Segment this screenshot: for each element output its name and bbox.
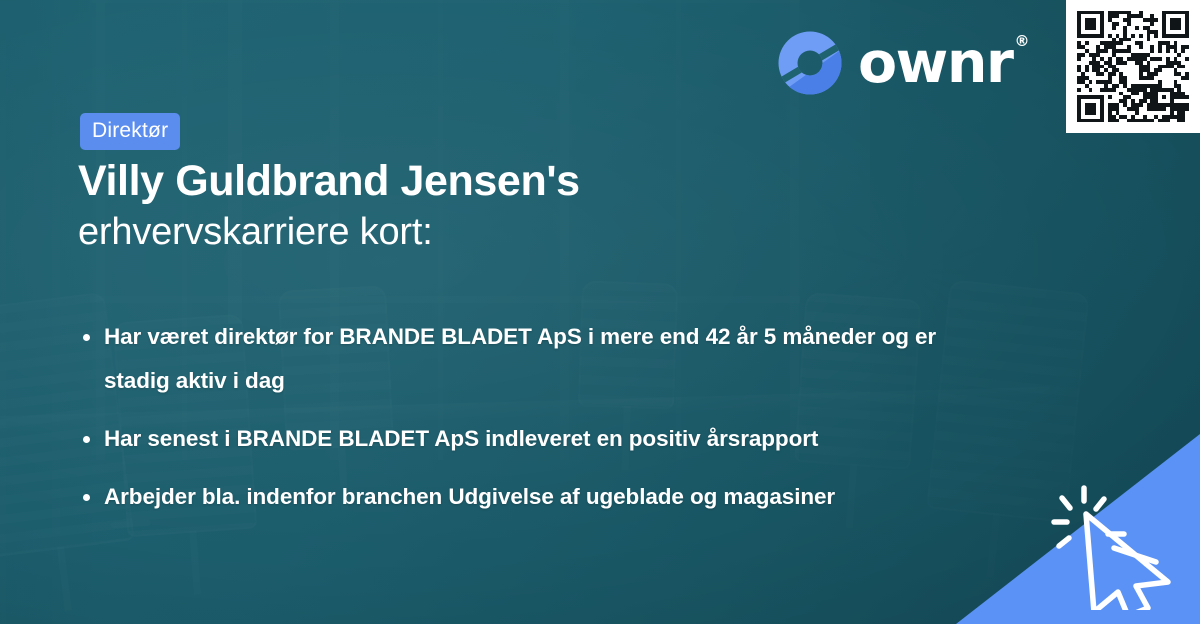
list-item: Arbejder bla. indenfor branchen Udgivels… xyxy=(80,475,980,519)
list-item-label: Arbejder bla. indenfor branchen Udgivels… xyxy=(104,484,835,509)
list-item-label: Har været direktør for BRANDE BLADET ApS… xyxy=(104,324,936,393)
qr-code-icon xyxy=(1077,11,1189,123)
qr-code-panel[interactable] xyxy=(1066,0,1200,133)
list-item-label: Har senest i BRANDE BLADET ApS indlevere… xyxy=(104,426,818,451)
headline-line-1: Villy Guldbrand Jensen's xyxy=(78,157,778,206)
page-title: Villy Guldbrand Jensen's erhvervskarrier… xyxy=(78,157,778,256)
registered-trademark-icon: ® xyxy=(1015,32,1030,50)
ownr-circle-swoosh-icon xyxy=(778,31,842,95)
role-badge: Direktør xyxy=(80,113,180,150)
ownr-logo[interactable]: ownr® xyxy=(778,30,1028,96)
ownr-profile-card: ownr® Direktør Villy Guldbrand Jensen's … xyxy=(0,0,1200,624)
ownr-wordmark: ownr® xyxy=(858,35,1028,92)
bullet-dot-icon xyxy=(83,436,90,443)
list-item: Har senest i BRANDE BLADET ApS indlevere… xyxy=(80,417,980,461)
click-cursor-icon xyxy=(1044,478,1186,610)
bullet-dot-icon xyxy=(83,334,90,341)
headline-line-2: erhvervskarriere kort: xyxy=(78,210,778,256)
list-item: Har været direktør for BRANDE BLADET ApS… xyxy=(80,315,980,403)
bullet-dot-icon xyxy=(83,494,90,501)
ownr-wordmark-text: ownr xyxy=(858,30,1013,96)
career-highlights-list: Har været direktør for BRANDE BLADET ApS… xyxy=(80,315,980,519)
